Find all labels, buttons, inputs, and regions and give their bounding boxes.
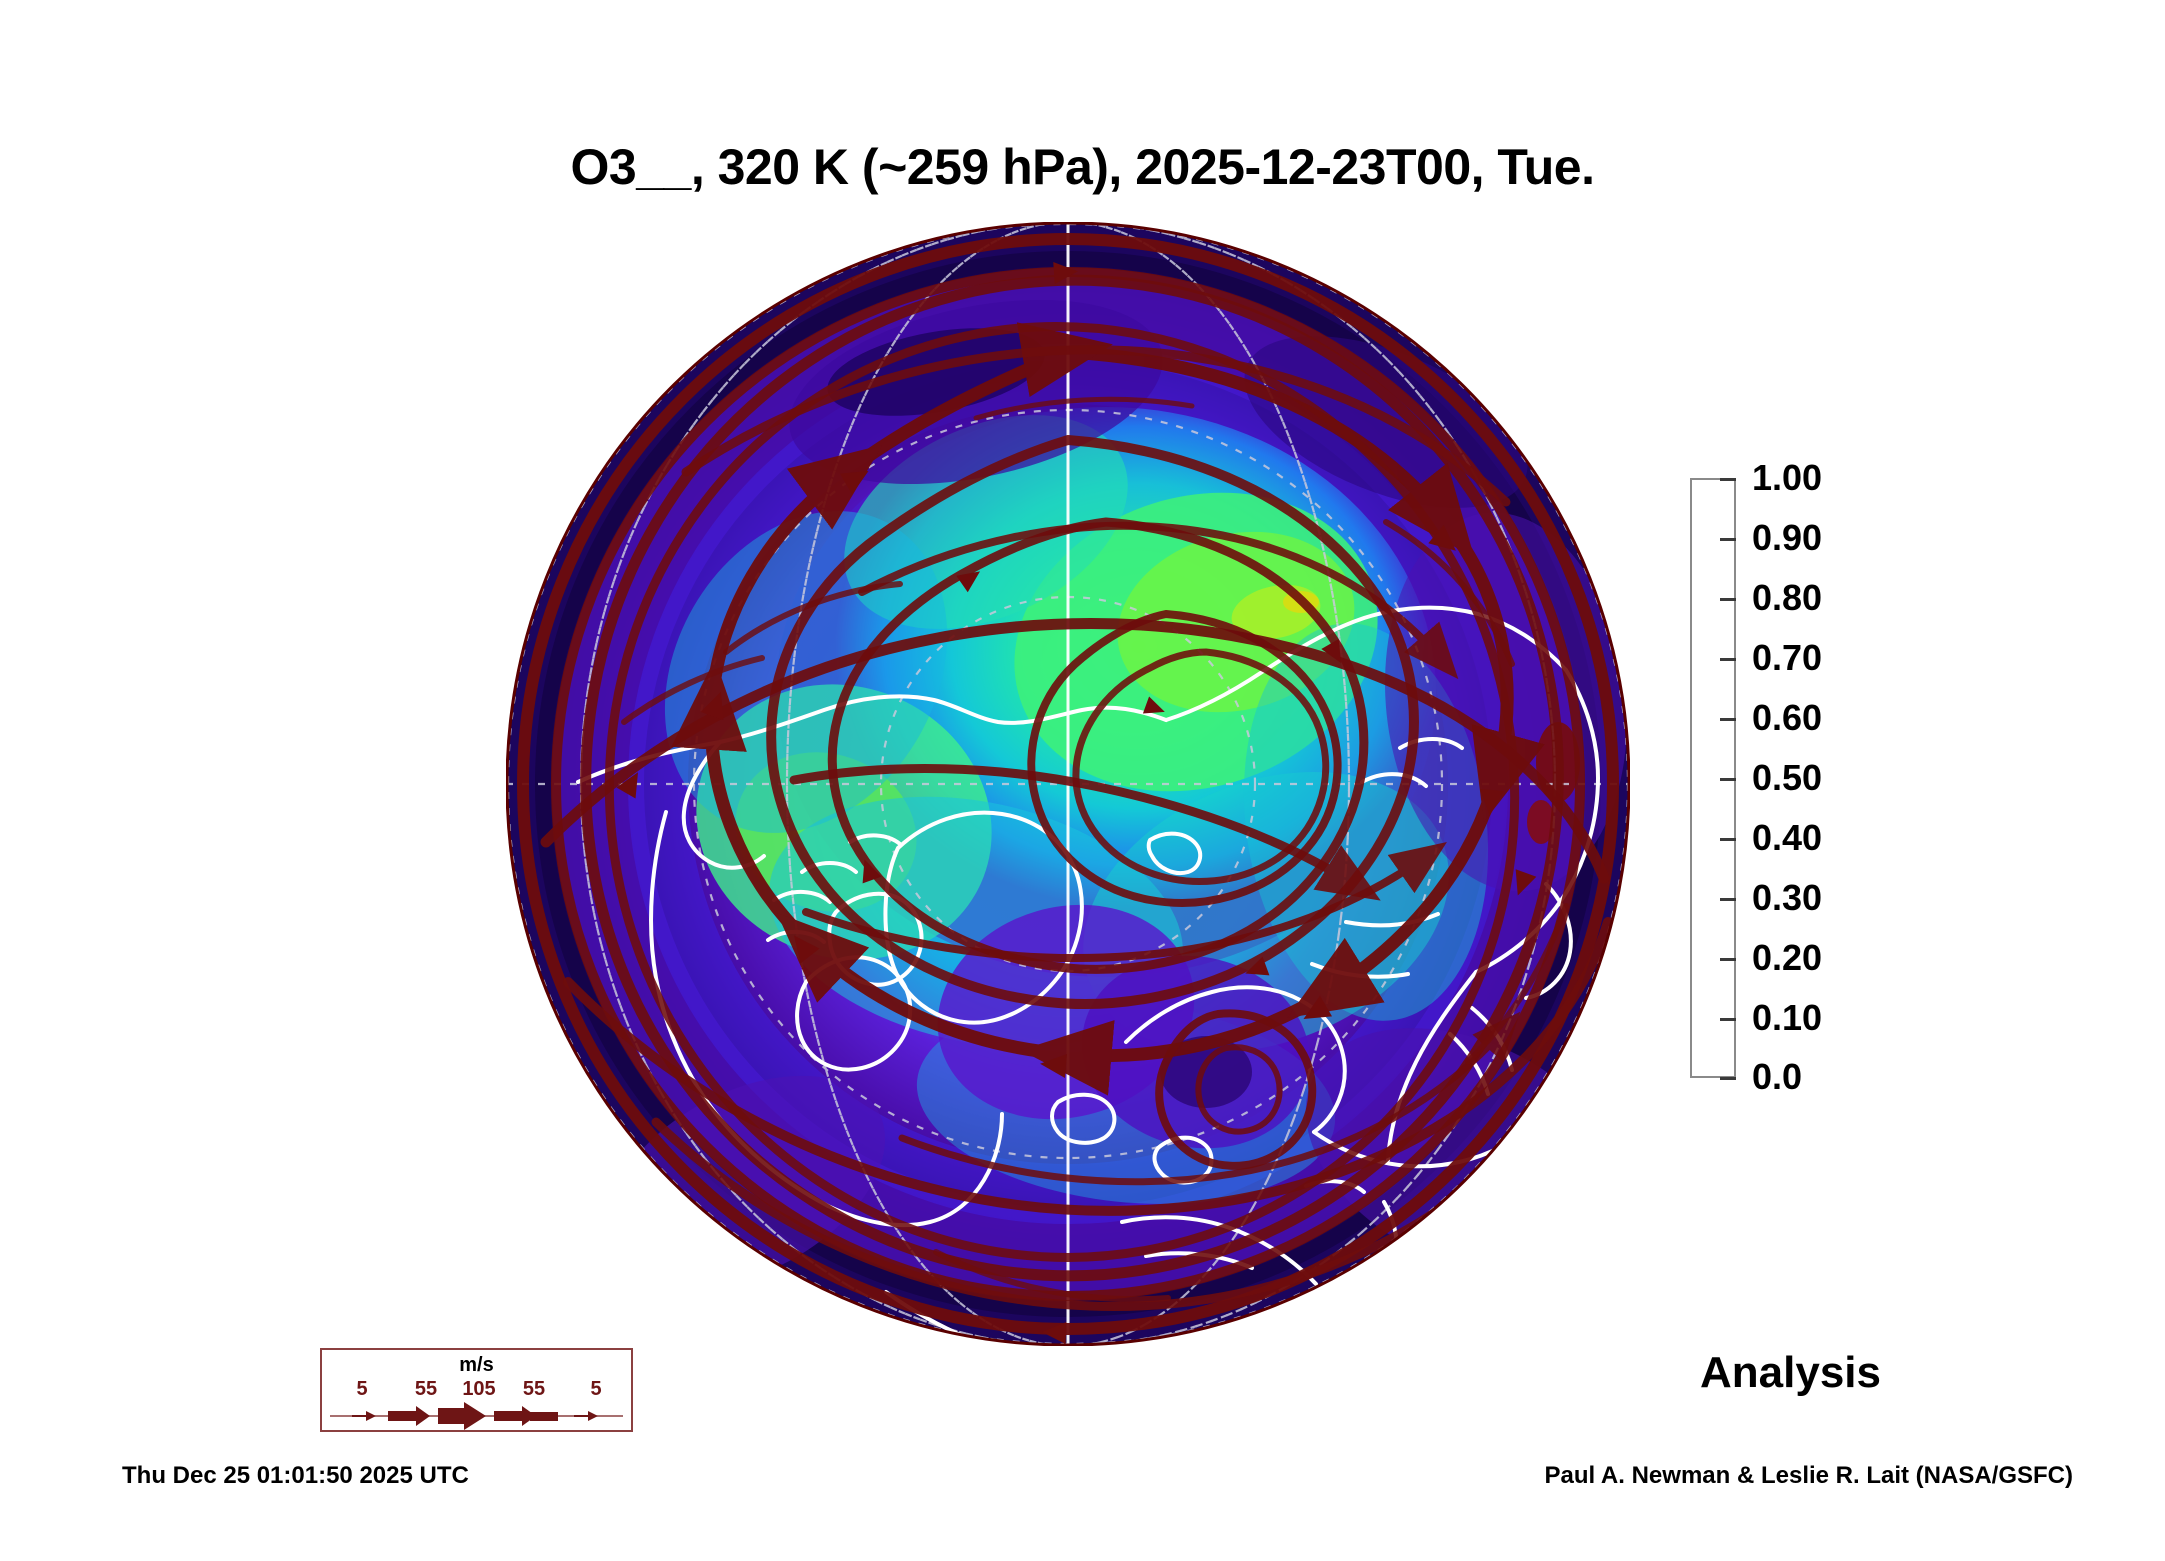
author-credit: Paul A. Newman & Leslie R. Lait (NASA/GS… <box>1544 1462 2073 1490</box>
wind-legend-arrows <box>322 1400 631 1432</box>
colorbar-label-0.10: 0.10 <box>1752 1000 1822 1036</box>
colorbar-label-0.90: 0.90 <box>1752 520 1822 556</box>
colorbar-tick-1 <box>1720 538 1736 541</box>
wind-arrow-5-left <box>352 1411 376 1421</box>
polar-map[interactable] <box>506 222 1630 1346</box>
wind-value-55-right: 55 <box>523 1378 545 1401</box>
wind-arrow-105 <box>438 1402 486 1430</box>
render-timestamp: Thu Dec 25 01:01:50 2025 UTC <box>122 1462 469 1490</box>
colorbar-tick-4 <box>1720 718 1736 721</box>
wind-arrow-55-left <box>388 1406 430 1426</box>
colorbar-label-0.70: 0.70 <box>1752 640 1822 676</box>
wind-legend-unit: m/s <box>322 1354 631 1377</box>
colorbar-tick-9 <box>1720 1018 1736 1021</box>
page-title: O3__, 320 K (~259 hPa), 2025-12-23T00, T… <box>0 138 2165 196</box>
coastline-se-asia <box>1516 1182 1620 1292</box>
wind-value-5-left: 5 <box>356 1378 367 1401</box>
wind-arrow-55-right-tail <box>530 1412 558 1421</box>
colorbar-label-0.40: 0.40 <box>1752 820 1822 856</box>
colorbar-tick-3 <box>1720 658 1736 661</box>
colorbar-tick-6 <box>1720 838 1736 841</box>
wind-value-105: 105 <box>462 1378 495 1401</box>
colorbar-tick-5 <box>1720 778 1736 781</box>
colorbar-tick-2 <box>1720 598 1736 601</box>
colorbar-tick-0 <box>1720 478 1736 481</box>
colorbar-label-0.60: 0.60 <box>1752 700 1822 736</box>
globe-svg[interactable] <box>506 222 1630 1346</box>
colorbar-tick-7 <box>1720 898 1736 901</box>
colorbar-label-0.50: 0.50 <box>1752 760 1822 796</box>
colorbar-label-0.20: 0.20 <box>1752 940 1822 976</box>
colorbar-label-1.00: 1.00 <box>1752 460 1822 496</box>
wind-speed-legend: m/s 5 55 105 55 5 <box>320 1348 633 1432</box>
colorbar-tick-10 <box>1720 1077 1736 1080</box>
colorbar-label-0.0: 0.0 <box>1752 1059 1802 1095</box>
colorbar[interactable]: 1.00 0.90 0.80 0.70 0.60 0.50 0.40 0.30 … <box>1690 478 2090 1098</box>
wind-value-55-left: 55 <box>415 1378 437 1401</box>
coastline-arabia-india <box>1336 1284 1524 1346</box>
colorbar-tick-8 <box>1720 958 1736 961</box>
colorbar-label-0.30: 0.30 <box>1752 880 1822 916</box>
colorbar-label-0.80: 0.80 <box>1752 580 1822 616</box>
wind-arrow-55-right <box>494 1406 536 1426</box>
analysis-label: Analysis <box>1700 1348 1881 1398</box>
wind-arrow-5-right <box>574 1411 598 1421</box>
wind-value-5-right: 5 <box>590 1378 601 1401</box>
